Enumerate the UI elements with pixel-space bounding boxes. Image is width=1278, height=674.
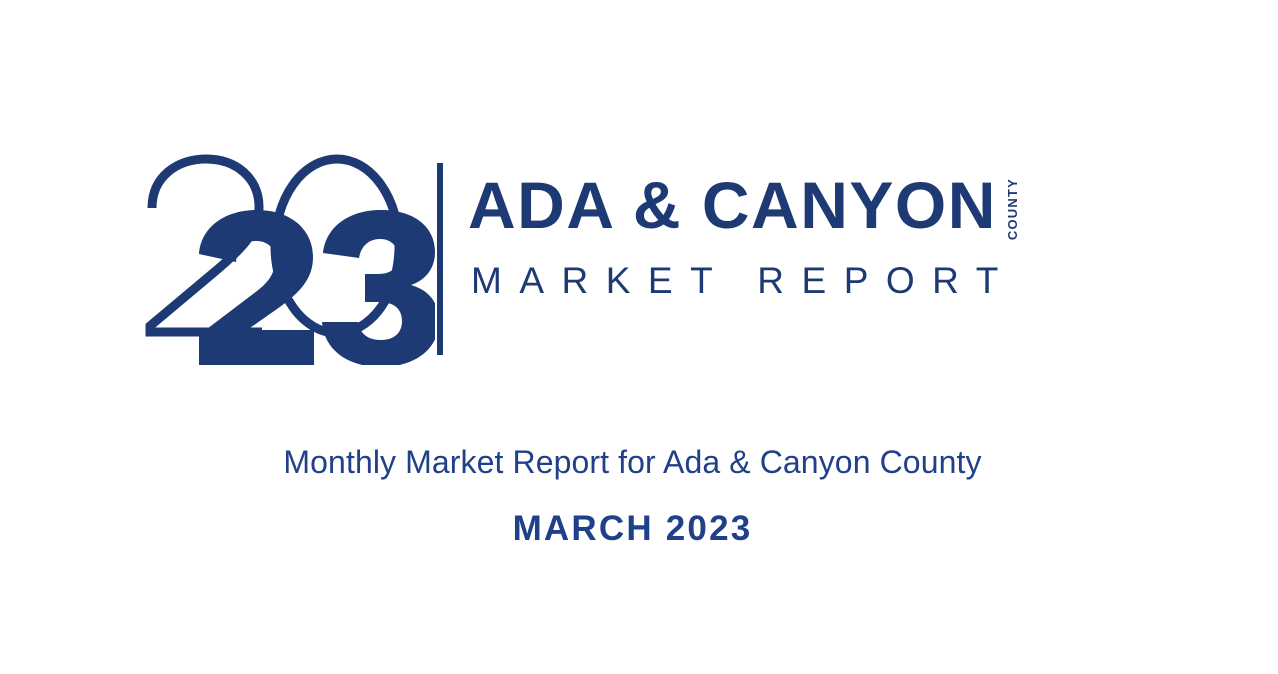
year-mark-2023	[140, 150, 430, 365]
cover-report-date: MARCH 2023	[0, 508, 1265, 550]
brand-name-county-superscript: COUNTY	[1006, 178, 1019, 240]
logo-lockup: ADA & CANYON COUNTY MARKET REPORT	[0, 150, 1278, 370]
brand-name-secondary: MARKET REPORT	[471, 262, 1016, 299]
year-solid-23-icon	[195, 210, 435, 365]
brand-name-row: ADA & CANYON COUNTY	[468, 172, 1019, 240]
cover-subtitle: Monthly Market Report for Ada & Canyon C…	[0, 443, 1265, 481]
report-cover-page: ADA & CANYON COUNTY MARKET REPORT Monthl…	[0, 0, 1278, 674]
brand-name-primary: ADA & CANYON	[468, 172, 997, 238]
logo-divider-rule	[437, 163, 443, 355]
brand-title-block: ADA & CANYON COUNTY MARKET REPORT	[468, 150, 1168, 365]
